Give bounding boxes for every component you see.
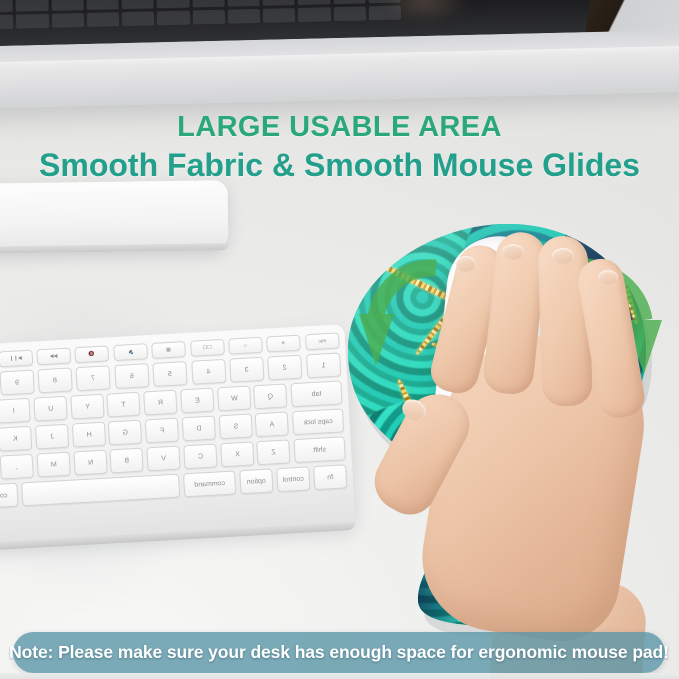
- key-tab[interactable]: tab: [290, 380, 342, 407]
- reflection-blob: [364, 0, 485, 27]
- fingernail: [598, 270, 618, 285]
- key-comma[interactable]: ,: [0, 454, 34, 480]
- key-g[interactable]: G: [109, 420, 143, 446]
- key-b[interactable]: B: [110, 448, 144, 474]
- key-1[interactable]: 1: [305, 352, 341, 378]
- key-n[interactable]: N: [74, 450, 108, 476]
- key[interactable]: 🔇: [74, 345, 109, 363]
- note-banner: Note: Please make sure your desk has eno…: [13, 632, 665, 673]
- key-8[interactable]: 8: [37, 367, 73, 393]
- key-d[interactable]: D: [182, 416, 216, 442]
- key-m[interactable]: M: [37, 452, 71, 478]
- note-banner-text: Note: Please make sure your desk has eno…: [9, 642, 669, 663]
- fingernail: [552, 248, 574, 264]
- key-f[interactable]: F: [145, 418, 179, 444]
- key-4[interactable]: 4: [190, 359, 226, 385]
- monitor-body: Other Products $72,940,275 After Service…: [0, 0, 679, 109]
- key[interactable]: 🔉: [113, 343, 148, 361]
- fingernail: [456, 256, 476, 272]
- key-k[interactable]: K: [0, 426, 33, 452]
- key-6[interactable]: 6: [114, 363, 150, 389]
- key-c[interactable]: C: [183, 443, 217, 469]
- key-a[interactable]: A: [255, 411, 289, 437]
- key[interactable]: ☼: [228, 337, 263, 355]
- key-y[interactable]: Y: [70, 394, 104, 420]
- key-w[interactable]: W: [217, 386, 251, 412]
- key-u[interactable]: U: [34, 396, 68, 422]
- key[interactable]: ☐☐: [189, 339, 224, 357]
- key-i[interactable]: I: [0, 398, 31, 424]
- key[interactable]: ▶❙❙: [0, 350, 33, 368]
- key-option[interactable]: option: [239, 468, 273, 494]
- key[interactable]: esc: [304, 332, 339, 350]
- key-caps-lock[interactable]: caps lock: [292, 408, 344, 435]
- key-5[interactable]: 5: [152, 361, 188, 387]
- key-space[interactable]: [21, 474, 180, 507]
- key-command-left[interactable]: command: [183, 470, 236, 497]
- key-2[interactable]: 2: [267, 355, 303, 381]
- key-j[interactable]: J: [35, 424, 69, 450]
- key-9[interactable]: 9: [0, 370, 35, 396]
- bottom-fade: [0, 673, 679, 679]
- key-7[interactable]: 7: [76, 365, 112, 391]
- key[interactable]: ▦: [151, 341, 186, 359]
- monitor: Other Products $72,940,275 After Service…: [0, 0, 679, 100]
- keyboard[interactable]: ⏏ ◀◀ ▶❙❙ ▶▶ 🔇 🔉 ▦ ☐☐ ☼ ☀ esc ~ 0 9 8 7 6…: [0, 324, 355, 548]
- key-control[interactable]: control: [276, 466, 310, 492]
- key-v[interactable]: V: [147, 446, 181, 472]
- fingernail: [502, 244, 524, 260]
- key-q[interactable]: Q: [254, 383, 288, 409]
- key-command-right[interactable]: command: [0, 483, 19, 510]
- key[interactable]: ▶▶: [36, 347, 71, 365]
- key-3[interactable]: 3: [229, 357, 265, 383]
- key-z[interactable]: Z: [257, 439, 291, 465]
- product-scene: Other Products $72,940,275 After Service…: [0, 0, 679, 679]
- key-e[interactable]: E: [180, 388, 214, 414]
- key-x[interactable]: X: [220, 441, 254, 467]
- key[interactable]: ☀: [266, 335, 301, 353]
- key-r[interactable]: R: [144, 390, 178, 416]
- hand-on-mouse: [404, 250, 679, 650]
- key-h[interactable]: H: [72, 422, 106, 448]
- monitor-chin-highlight: [0, 45, 679, 71]
- monitor-stand-foot: [0, 180, 228, 254]
- key-s[interactable]: S: [218, 413, 252, 439]
- key-t[interactable]: T: [107, 392, 141, 418]
